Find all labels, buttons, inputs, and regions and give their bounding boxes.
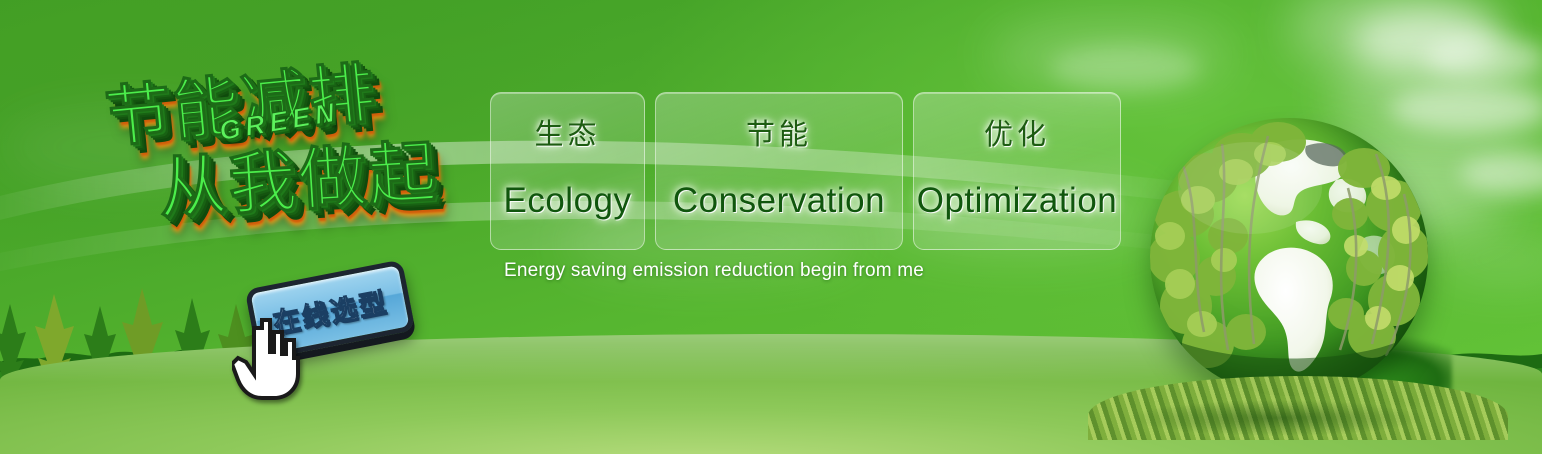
feature-card-en-label: Ecology bbox=[503, 181, 631, 235]
hand-pointer-icon bbox=[232, 318, 304, 400]
feature-card-list: 生态 Ecology 节能 Conservation 优化 Optimizati… bbox=[490, 92, 1121, 250]
leafy-globe-icon bbox=[1128, 118, 1448, 436]
feature-card-ecology[interactable]: 生态 Ecology bbox=[490, 92, 645, 250]
feature-card-zh-label: 节能 bbox=[746, 111, 812, 153]
green-energy-banner: 节能减排 GREEN 从我做起 在线选型 生态 Ecology 节能 Conse… bbox=[0, 0, 1542, 454]
feature-card-zh-label: 生态 bbox=[534, 111, 600, 153]
headline-line-2: 从我做起 bbox=[155, 116, 441, 232]
feature-card-conservation[interactable]: 节能 Conservation bbox=[655, 92, 903, 250]
feature-card-en-label: Optimization bbox=[917, 181, 1118, 235]
feature-card-optimization[interactable]: 优化 Optimization bbox=[913, 92, 1121, 250]
feature-card-zh-label: 优化 bbox=[984, 111, 1050, 153]
tagline-text: Energy saving emission reduction begin f… bbox=[504, 260, 924, 282]
globe-sphere bbox=[1150, 118, 1428, 396]
headline-group: 节能减排 GREEN 从我做起 bbox=[86, 18, 526, 287]
feature-card-en-label: Conservation bbox=[673, 181, 885, 235]
